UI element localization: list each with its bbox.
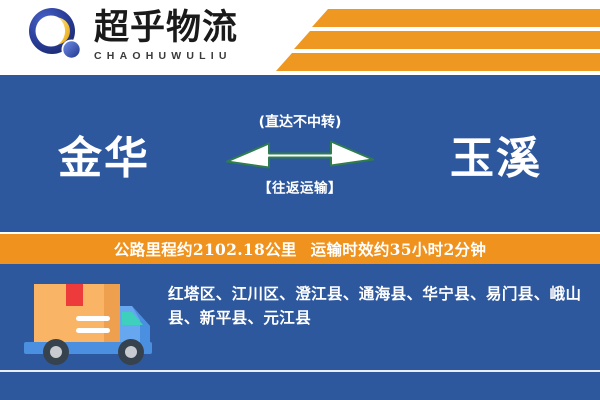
circle-crescent-logo-icon bbox=[26, 7, 88, 65]
brand-text: 超乎物流 CHAOHUWULIU bbox=[94, 10, 238, 62]
delivery-truck-icon bbox=[18, 276, 158, 376]
info-bar: 公路里程约2102.18公里运输时效约35小时2分钟 bbox=[0, 234, 600, 264]
route-note-roundtrip: 【往返运输】 bbox=[258, 176, 342, 196]
logistics-route-poster: 超乎物流 CHAOHUWULIU 金华 (直达不中转) 【往返运输】 玉溪 bbox=[0, 0, 600, 400]
header: 超乎物流 CHAOHUWULIU bbox=[0, 0, 600, 75]
route-middle-group: (直达不中转) 【往返运输】 bbox=[205, 111, 395, 196]
speed-stripes-icon bbox=[270, 0, 600, 75]
brand-name-cn: 超乎物流 bbox=[94, 10, 238, 47]
brand-lockup: 超乎物流 CHAOHUWULIU bbox=[26, 7, 238, 65]
brand-name-en: CHAOHUWULIU bbox=[94, 50, 238, 62]
destination-city: 玉溪 bbox=[450, 122, 542, 186]
coverage-panel: 红塔区、江川区、澄江县、通海县、华宁县、易门县、峨山县、新平县、元江县 bbox=[0, 264, 600, 400]
bidirectional-arrow-icon bbox=[225, 135, 375, 171]
origin-city: 金华 bbox=[58, 122, 150, 186]
duration-text: 运输时效约35小时2分钟 bbox=[311, 240, 486, 259]
info-bar-content: 公路里程约2102.18公里运输时效约35小时2分钟 bbox=[114, 238, 486, 260]
district-list: 红塔区、江川区、澄江县、通海县、华宁县、易门县、峨山县、新平县、元江县 bbox=[168, 282, 582, 330]
bottom-divider bbox=[0, 370, 600, 372]
route-note-direct: (直达不中转) bbox=[259, 111, 342, 131]
distance-text: 公路里程约2102.18公里 bbox=[114, 240, 297, 259]
route-panel: 金华 (直达不中转) 【往返运输】 玉溪 bbox=[0, 75, 600, 232]
